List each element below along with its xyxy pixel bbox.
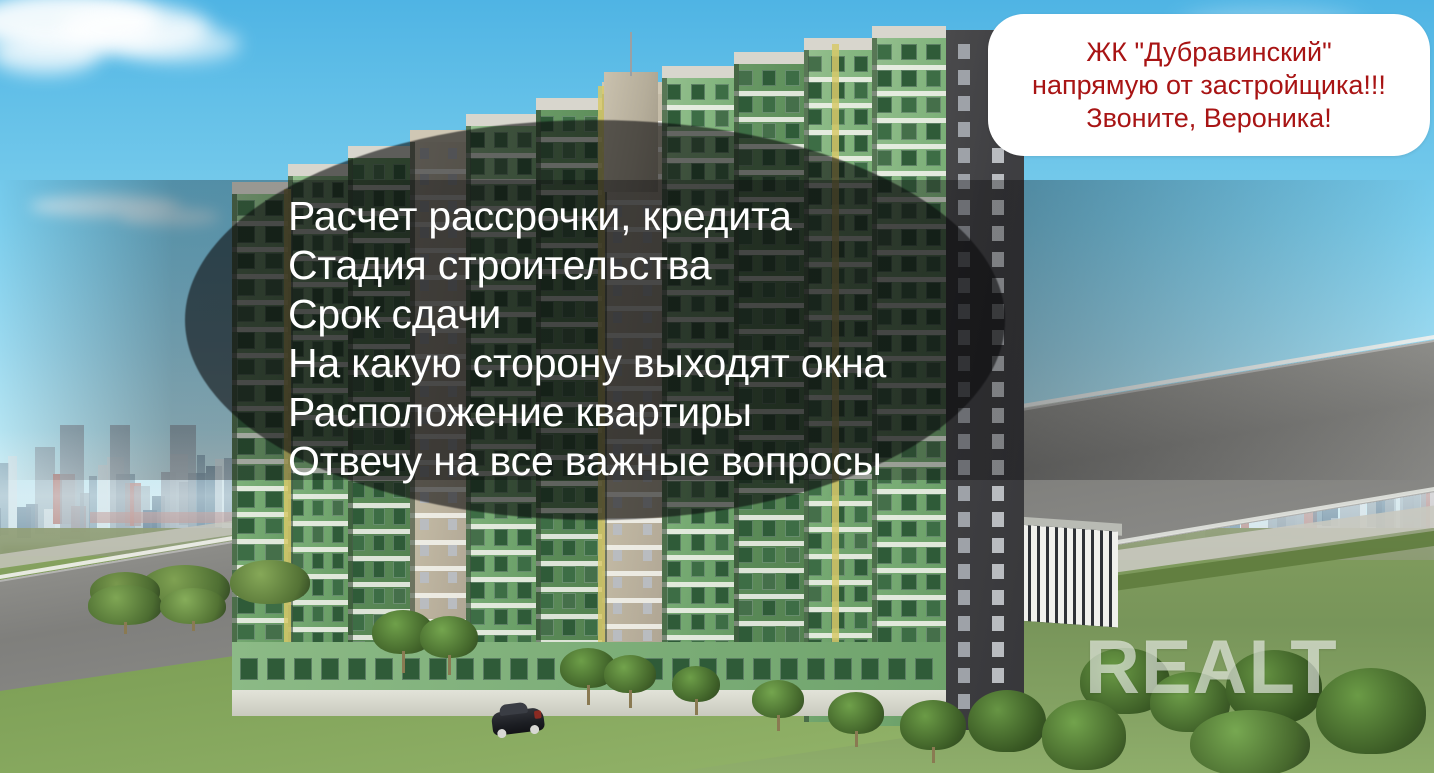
window xyxy=(448,572,457,583)
ground-floor-window xyxy=(240,658,258,680)
window xyxy=(877,123,892,139)
window xyxy=(958,616,970,631)
window xyxy=(373,508,386,524)
facade-band xyxy=(410,593,466,598)
window xyxy=(643,577,652,588)
window xyxy=(738,600,752,616)
parking-structure xyxy=(1018,525,1118,628)
ground-floor-window xyxy=(510,658,528,680)
parking-stripe xyxy=(1058,527,1064,623)
window xyxy=(785,626,799,642)
facade-band xyxy=(872,621,946,626)
window xyxy=(901,574,916,590)
ground-floor-window xyxy=(429,658,447,680)
window xyxy=(352,561,365,577)
window xyxy=(958,642,970,657)
window xyxy=(992,564,1004,579)
window xyxy=(901,521,916,537)
window xyxy=(992,590,1004,605)
window xyxy=(854,109,868,125)
parking-stripe xyxy=(1094,530,1100,626)
window xyxy=(691,587,706,603)
ground-floor-window xyxy=(375,658,393,680)
facade-band xyxy=(662,555,734,560)
window xyxy=(877,600,892,616)
window xyxy=(926,521,941,537)
facade-band xyxy=(536,534,602,539)
window xyxy=(992,538,1004,553)
facade-band xyxy=(662,608,734,613)
window xyxy=(420,519,429,530)
window xyxy=(877,627,892,643)
window xyxy=(393,508,406,524)
window xyxy=(854,586,868,602)
ground-floor-window xyxy=(834,658,852,680)
facade-band xyxy=(288,494,348,499)
facade-band xyxy=(536,614,602,619)
window xyxy=(738,547,752,563)
window xyxy=(877,97,892,113)
facade-band xyxy=(734,117,804,122)
window xyxy=(265,491,282,507)
facade-band xyxy=(602,598,662,603)
window xyxy=(667,534,682,550)
window xyxy=(494,556,508,572)
facade-band xyxy=(662,529,734,534)
window xyxy=(958,564,970,579)
window xyxy=(613,524,622,535)
window xyxy=(958,512,970,527)
window xyxy=(877,70,892,86)
facade-band xyxy=(232,486,288,491)
parking-stripe xyxy=(1112,531,1118,627)
window xyxy=(667,587,682,603)
window xyxy=(762,626,776,642)
ground-floor-window xyxy=(267,658,285,680)
window xyxy=(352,535,365,551)
window xyxy=(958,96,970,111)
callout-line-1: ЖК "Дубравинский" xyxy=(1086,36,1331,69)
window xyxy=(562,593,576,609)
facade-band xyxy=(288,547,348,552)
facade-band xyxy=(662,635,734,640)
facade-band xyxy=(602,624,662,629)
window xyxy=(292,606,304,622)
window xyxy=(901,600,916,616)
facade-band xyxy=(288,600,348,605)
window xyxy=(808,533,822,549)
window xyxy=(738,70,752,86)
parking-stripe xyxy=(1067,528,1073,624)
window xyxy=(901,44,916,60)
facade-band xyxy=(466,550,536,555)
window xyxy=(237,491,254,507)
window xyxy=(992,642,1004,657)
window xyxy=(517,609,531,625)
window xyxy=(901,627,916,643)
window xyxy=(562,540,576,556)
window xyxy=(854,559,868,575)
window xyxy=(785,123,799,139)
window xyxy=(470,556,484,572)
ground-floor-window xyxy=(321,658,339,680)
facade-band xyxy=(232,512,288,517)
tree-trunk xyxy=(192,621,195,631)
ground-floor-window xyxy=(537,658,555,680)
tree-trunk xyxy=(629,690,632,708)
facade-band xyxy=(348,529,410,534)
window xyxy=(584,540,598,556)
overlay-text-line-1: Расчет рассрочки, кредита xyxy=(288,192,1048,241)
window xyxy=(926,123,941,139)
window xyxy=(470,582,484,598)
ground-floor-window xyxy=(294,658,312,680)
window xyxy=(992,668,1004,683)
window xyxy=(494,529,508,545)
facade-band xyxy=(734,594,804,599)
facade-band xyxy=(466,524,536,529)
facade-band xyxy=(232,539,288,544)
overlay-text-line-2: Стадия строительства xyxy=(288,241,1048,290)
facade-band xyxy=(734,541,804,546)
window xyxy=(517,582,531,598)
window xyxy=(584,566,598,582)
window xyxy=(373,588,386,604)
window xyxy=(901,97,916,113)
window xyxy=(877,521,892,537)
ground-floor-window xyxy=(483,658,501,680)
window xyxy=(312,579,324,595)
tree xyxy=(828,692,884,734)
window xyxy=(926,70,941,86)
window xyxy=(762,600,776,616)
window xyxy=(926,547,941,563)
window xyxy=(877,547,892,563)
tree xyxy=(900,700,966,750)
window xyxy=(854,56,868,72)
window xyxy=(992,486,1004,501)
facade-band xyxy=(602,571,662,576)
window xyxy=(715,561,730,577)
window xyxy=(785,600,799,616)
facade-band xyxy=(466,577,536,582)
window xyxy=(540,619,554,635)
window xyxy=(691,561,706,577)
window xyxy=(877,574,892,590)
window xyxy=(393,561,406,577)
window xyxy=(237,624,254,640)
parking-stripe xyxy=(1076,529,1082,625)
facade-band xyxy=(410,540,466,545)
window xyxy=(292,526,304,542)
window xyxy=(393,588,406,604)
facade-band xyxy=(734,568,804,573)
window xyxy=(312,606,324,622)
window xyxy=(691,84,706,100)
tree-trunk xyxy=(695,699,698,715)
window xyxy=(265,544,282,560)
window xyxy=(785,547,799,563)
window xyxy=(562,566,576,582)
window xyxy=(762,547,776,563)
facade-band xyxy=(734,91,804,96)
callout-bubble: ЖК "Дубравинский"напрямую от застройщика… xyxy=(988,14,1430,156)
window xyxy=(643,630,652,641)
window xyxy=(584,619,598,635)
ground-floor-window xyxy=(726,658,744,680)
facade-band xyxy=(662,582,734,587)
window xyxy=(854,533,868,549)
facade-band xyxy=(410,513,466,518)
window xyxy=(613,550,622,561)
window xyxy=(715,614,730,630)
facade-band xyxy=(872,515,946,520)
ground-floor-window xyxy=(348,658,366,680)
tree-trunk xyxy=(402,651,405,673)
facade-band xyxy=(872,542,946,547)
facade-band xyxy=(288,627,348,632)
overlay-text-line-6: Отвечу на все важные вопросы xyxy=(288,437,1048,486)
window xyxy=(808,559,822,575)
tree xyxy=(160,588,226,624)
window xyxy=(926,150,941,166)
window xyxy=(715,84,730,100)
callout-line-3: Звоните, Вероника! xyxy=(1086,102,1331,135)
window xyxy=(901,123,916,139)
facade-band xyxy=(734,621,804,626)
window xyxy=(808,506,822,522)
window xyxy=(352,588,365,604)
window xyxy=(584,593,598,609)
window xyxy=(762,520,776,536)
facade-band xyxy=(872,118,946,123)
window xyxy=(854,506,868,522)
window xyxy=(785,520,799,536)
window xyxy=(992,148,1004,163)
facade-band xyxy=(602,545,662,550)
tree xyxy=(604,655,656,693)
window xyxy=(332,526,344,542)
window xyxy=(958,70,970,85)
parking-stripe xyxy=(1085,529,1091,625)
window xyxy=(992,616,1004,631)
tree xyxy=(752,680,804,718)
window xyxy=(517,529,531,545)
ground-floor-window xyxy=(780,658,798,680)
parking-stripe xyxy=(1040,526,1046,622)
facade-band xyxy=(348,556,410,561)
cloud xyxy=(120,26,240,62)
window xyxy=(562,619,576,635)
window xyxy=(420,545,429,556)
facade-band xyxy=(872,91,946,96)
tree xyxy=(1042,700,1126,770)
window xyxy=(762,96,776,112)
window xyxy=(332,500,344,516)
window xyxy=(420,572,429,583)
window xyxy=(958,538,970,553)
facade-band xyxy=(872,171,946,176)
window xyxy=(992,512,1004,527)
window xyxy=(785,70,799,86)
tree xyxy=(420,616,478,658)
window xyxy=(762,573,776,589)
tree xyxy=(1190,710,1310,773)
facade-band xyxy=(410,566,466,571)
window xyxy=(332,606,344,622)
window xyxy=(540,566,554,582)
tree-trunk xyxy=(777,715,780,731)
realt-watermark: REALT xyxy=(1085,630,1338,706)
window xyxy=(470,609,484,625)
window xyxy=(448,545,457,556)
facade-band xyxy=(536,587,602,592)
window xyxy=(448,519,457,530)
window xyxy=(877,494,892,510)
window xyxy=(613,603,622,614)
window xyxy=(785,573,799,589)
tree-trunk xyxy=(124,622,127,634)
antenna xyxy=(630,32,632,76)
facade-band xyxy=(232,618,288,623)
overlay-text-line-3: Срок сдачи xyxy=(288,290,1048,339)
ground-floor-window xyxy=(456,658,474,680)
facade-band xyxy=(872,568,946,573)
window xyxy=(785,96,799,112)
window xyxy=(420,598,429,609)
ground-floor-window xyxy=(807,658,825,680)
window xyxy=(958,694,970,709)
window xyxy=(691,614,706,630)
window xyxy=(540,540,554,556)
window xyxy=(958,44,970,59)
window xyxy=(332,553,344,569)
window xyxy=(715,534,730,550)
window xyxy=(667,614,682,630)
car xyxy=(491,707,545,736)
tree-trunk xyxy=(932,747,935,763)
tree xyxy=(230,560,310,604)
facade-band xyxy=(348,503,410,508)
window xyxy=(738,96,752,112)
window xyxy=(808,82,822,98)
window xyxy=(877,44,892,60)
window xyxy=(540,593,554,609)
window xyxy=(265,624,282,640)
tree xyxy=(672,666,720,702)
window xyxy=(901,70,916,86)
window xyxy=(470,529,484,545)
window xyxy=(808,56,822,72)
window xyxy=(715,587,730,603)
window xyxy=(958,122,970,137)
window xyxy=(715,110,730,126)
window xyxy=(901,150,916,166)
window xyxy=(265,518,282,534)
window xyxy=(643,550,652,561)
window xyxy=(926,44,941,60)
window xyxy=(494,609,508,625)
facade-band xyxy=(536,561,602,566)
window xyxy=(312,526,324,542)
facade-band xyxy=(662,105,734,110)
window xyxy=(494,582,508,598)
window xyxy=(667,561,682,577)
window xyxy=(393,535,406,551)
window xyxy=(926,600,941,616)
callout-line-2: напрямую от застройщика!!! xyxy=(1032,69,1386,102)
window xyxy=(237,544,254,560)
parking-stripe xyxy=(1049,527,1055,623)
window xyxy=(958,668,970,683)
window xyxy=(643,603,652,614)
window xyxy=(448,598,457,609)
window xyxy=(352,508,365,524)
window xyxy=(352,614,365,630)
window xyxy=(854,82,868,98)
facade-band xyxy=(734,515,804,520)
overlay-text-block: Расчет рассрочки, кредитаСтадия строител… xyxy=(288,192,1048,486)
window xyxy=(517,556,531,572)
ground-floor-window xyxy=(753,658,771,680)
window xyxy=(808,612,822,628)
tree-trunk xyxy=(855,731,858,747)
window xyxy=(958,590,970,605)
facade-band xyxy=(872,144,946,149)
facade-band xyxy=(348,582,410,587)
tree xyxy=(968,690,1046,752)
window xyxy=(762,70,776,86)
window xyxy=(926,627,941,643)
facade-band xyxy=(872,595,946,600)
parking-stripe xyxy=(1103,530,1109,626)
tree xyxy=(88,585,162,625)
window xyxy=(691,534,706,550)
window xyxy=(292,500,304,516)
ground-floor-window xyxy=(861,658,879,680)
window xyxy=(332,579,344,595)
window xyxy=(926,574,941,590)
ground-floor-window xyxy=(888,658,906,680)
window xyxy=(901,547,916,563)
window xyxy=(738,626,752,642)
window xyxy=(901,494,916,510)
window xyxy=(738,520,752,536)
window xyxy=(643,524,652,535)
window xyxy=(877,150,892,166)
window xyxy=(958,486,970,501)
window xyxy=(926,97,941,113)
window xyxy=(667,84,682,100)
window xyxy=(854,612,868,628)
window xyxy=(691,110,706,126)
window xyxy=(958,148,970,163)
window xyxy=(312,553,324,569)
ground-floor-window xyxy=(915,658,933,680)
window xyxy=(738,573,752,589)
window xyxy=(926,494,941,510)
window xyxy=(854,135,868,151)
window xyxy=(613,577,622,588)
window xyxy=(312,500,324,516)
facade-band xyxy=(466,603,536,608)
window xyxy=(237,518,254,534)
tree-trunk xyxy=(587,685,590,705)
facade-band xyxy=(288,521,348,526)
window xyxy=(808,109,822,125)
facade-band xyxy=(872,489,946,494)
tree-trunk xyxy=(448,655,451,675)
